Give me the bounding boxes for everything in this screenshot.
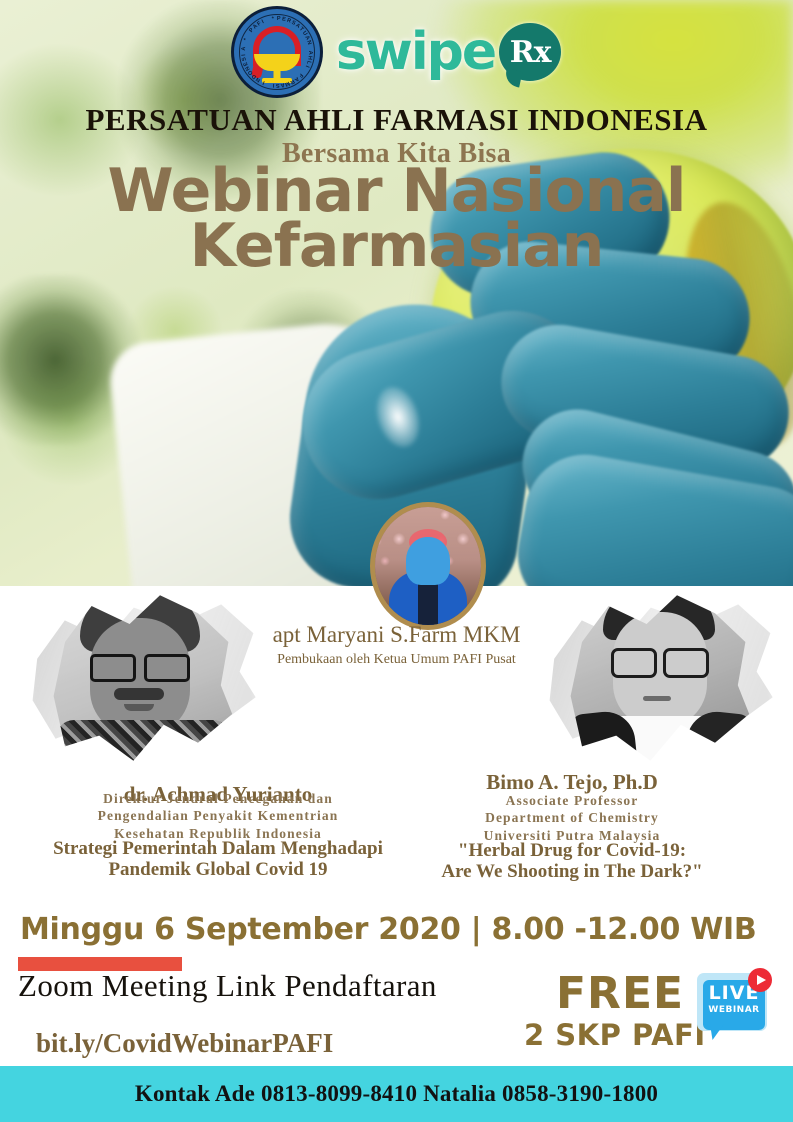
portrait-batik-shirt bbox=[56, 720, 231, 768]
badge-webinar-label: WEBINAR bbox=[703, 1005, 765, 1015]
avatar-hijab bbox=[406, 537, 450, 585]
page-title: Webinar Nasional Kefarmasian bbox=[0, 164, 793, 274]
contact-footer-bar: Kontak Ade 0813-8099-8410 Natalia 0858-3… bbox=[0, 1066, 793, 1122]
swipe-wordmark: swipe bbox=[336, 26, 495, 78]
registration-link[interactable]: bit.ly/CovidWebinarPAFI bbox=[36, 1028, 333, 1059]
badge-bubble-tail bbox=[710, 1024, 724, 1040]
event-platform-line: Zoom Meeting Link Pendaftaran bbox=[18, 968, 437, 1004]
portrait-mouth bbox=[124, 704, 154, 711]
rx-label: Rx bbox=[510, 35, 551, 70]
event-datetime: Minggu 6 September 2020 | 8.00 -12.00 WI… bbox=[20, 912, 756, 947]
title-line-2: Kefarmasian bbox=[0, 219, 793, 274]
glasses-icon bbox=[90, 654, 190, 676]
contact-text: Kontak Ade 0813-8099-8410 Natalia 0858-3… bbox=[135, 1081, 658, 1107]
rx-speech-bubble-icon: Rx bbox=[499, 23, 561, 81]
portrait-moustache bbox=[114, 688, 164, 700]
pafi-logo-icon: PERSATUAN AHLI FARMASI INDONESIA * PAFI … bbox=[232, 7, 322, 97]
live-webinar-badge-icon: LIVE WEBINAR bbox=[694, 968, 772, 1048]
left-speaker-photo bbox=[28, 580, 258, 780]
organization-name: PERSATUAN AHLI FARMASI INDONESIA bbox=[0, 102, 793, 138]
right-speaker-photo bbox=[545, 580, 775, 780]
play-button-icon bbox=[748, 968, 772, 992]
swiperx-logo: swipe Rx bbox=[336, 23, 561, 81]
avatar-inner-garment bbox=[418, 583, 438, 625]
logo-row: PERSATUAN AHLI FARMASI INDONESIA * PAFI … bbox=[0, 8, 793, 96]
pafi-logo-circular-text: PERSATUAN AHLI FARMASI INDONESIA * PAFI … bbox=[234, 9, 320, 95]
right-speaker-affiliation: Associate Professor Department of Chemis… bbox=[362, 792, 782, 844]
right-speaker-topic: "Herbal Drug for Covid-19: Are We Shooti… bbox=[352, 840, 792, 883]
portrait-mouth bbox=[643, 696, 671, 701]
price-label: FREE bbox=[556, 968, 684, 1019]
center-speaker-avatar bbox=[370, 502, 486, 630]
credits-label: 2 SKP PAFI bbox=[524, 1018, 706, 1052]
webinar-poster: PERSATUAN AHLI FARMASI INDONESIA * PAFI … bbox=[0, 0, 793, 1122]
glasses-icon bbox=[611, 648, 709, 672]
